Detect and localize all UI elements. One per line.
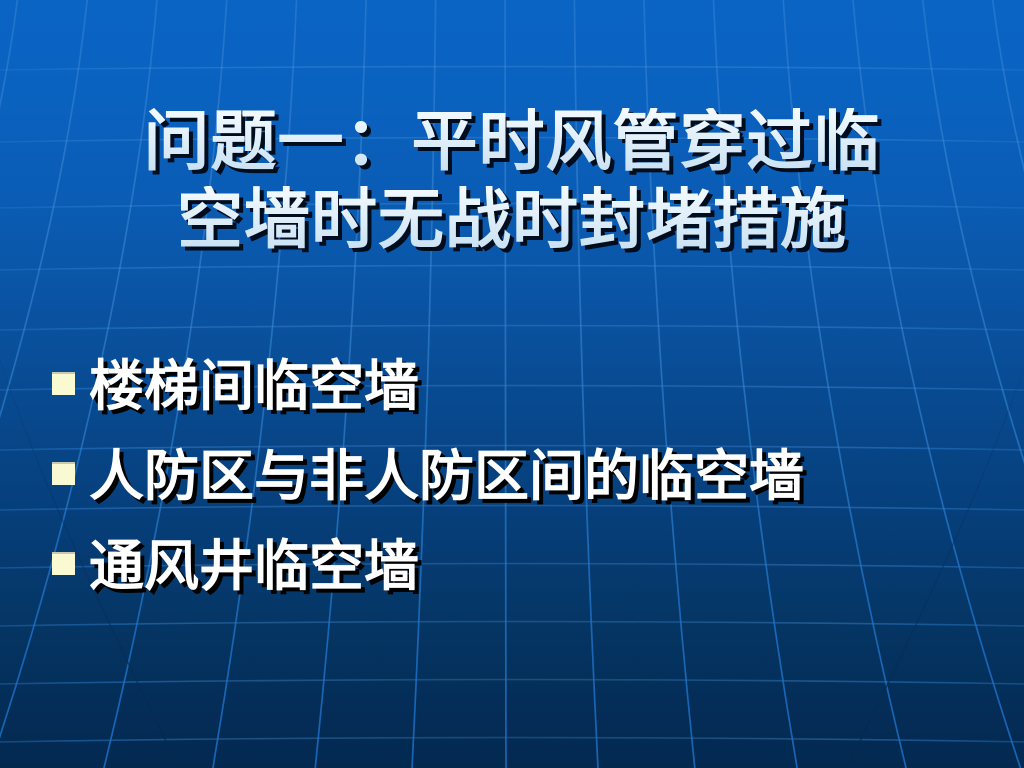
square-bullet-icon: [52, 462, 75, 485]
presentation-slide: 问题一：平时风管穿过临 空墙时无战时封堵措施 楼梯间临空墙 人防区与非人防区间的…: [0, 0, 1024, 768]
bullet-item-label: 人防区与非人防区间的临空墙: [89, 442, 992, 510]
list-item: 人防区与非人防区间的临空墙: [52, 442, 992, 514]
bullet-list: 楼梯间临空墙 人防区与非人防区间的临空墙 通风井临空墙: [52, 352, 992, 622]
bullet-item-label: 楼梯间临空墙: [89, 352, 992, 420]
square-bullet-icon: [52, 552, 75, 575]
list-item: 楼梯间临空墙: [52, 352, 992, 424]
slide-title-line-2: 空墙时无战时封堵措施: [0, 186, 1024, 252]
slide-title: 问题一：平时风管穿过临 空墙时无战时封堵措施: [0, 108, 1024, 252]
square-bullet-icon: [52, 372, 75, 395]
list-item: 通风井临空墙: [52, 532, 992, 604]
slide-title-line-1: 问题一：平时风管穿过临: [0, 108, 1024, 174]
bullet-item-label: 通风井临空墙: [89, 532, 992, 600]
